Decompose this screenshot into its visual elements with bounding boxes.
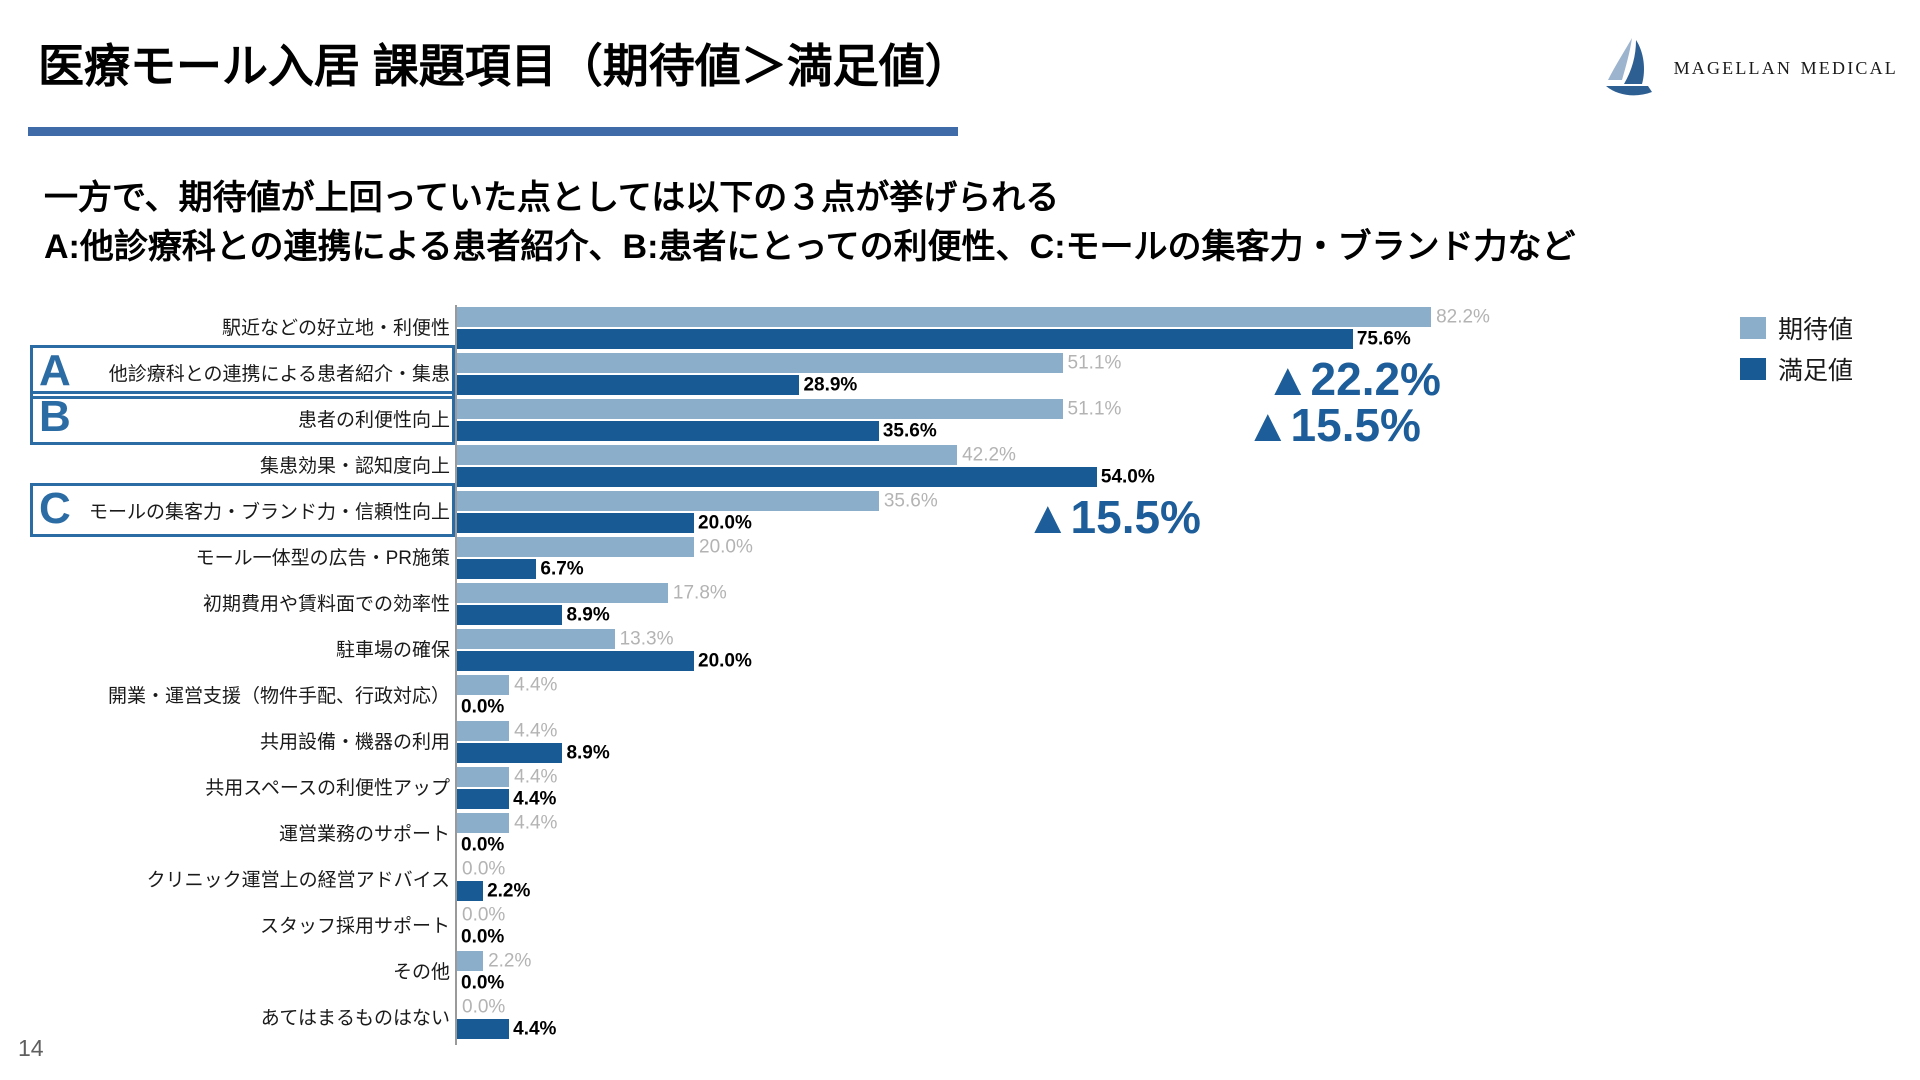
bar-value-expect: 13.3%: [615, 630, 674, 649]
bar-segment-expect: [457, 951, 483, 971]
bar-segment-satisf: [457, 743, 562, 763]
chart-row: 共用スペースの利便性アップ4.4%4.4%: [0, 767, 1920, 813]
bar-value-expect: 51.1%: [1063, 354, 1122, 373]
bar-value-satisf: 4.4%: [509, 790, 556, 809]
bar-value-expect: 35.6%: [879, 492, 938, 511]
bar-expect: 4.4%: [457, 675, 1657, 695]
subtitle-line-1: 一方で、期待値が上回っていた点としては以下の３点が挙げられる: [44, 174, 1576, 223]
bar-segment-satisf: [457, 329, 1353, 349]
bar-satisf: 8.9%: [457, 743, 1657, 763]
bar-value-expect: 0.0%: [457, 998, 505, 1017]
expectation-vs-satisfaction-bar-chart: 駅近などの好立地・利便性82.2%75.6%他診療科との連携による患者紹介・集患…: [0, 305, 1920, 1045]
bar-expect: 17.8%: [457, 583, 1657, 603]
category-label: クリニック運営上の経営アドバイス: [147, 871, 450, 890]
bar-satisf: 28.9%: [457, 375, 1657, 395]
bar-segment-satisf: [457, 375, 799, 395]
subtitle-line-2: A:他診療科との連携による患者紹介、B:患者にとっての利便性、C:モールの集客力…: [44, 223, 1576, 272]
bar-segment-expect: [457, 721, 509, 741]
bar-value-expect: 4.4%: [509, 722, 557, 741]
bar-segment-expect: [457, 307, 1431, 327]
bar-segment-expect: [457, 445, 957, 465]
callout-letter-b: B: [39, 395, 71, 439]
sail-boat-icon: [1602, 36, 1660, 98]
legend-swatch-expect: [1740, 317, 1766, 339]
bar-value-satisf: 20.0%: [694, 652, 752, 671]
chart-row: 駐車場の確保13.3%20.0%: [0, 629, 1920, 675]
bar-satisf: 8.9%: [457, 605, 1657, 625]
bar-segment-expect: [457, 583, 668, 603]
bar-satisf: 0.0%: [457, 927, 1657, 947]
bar-value-expect: 4.4%: [509, 768, 557, 787]
bar-value-satisf: 4.4%: [509, 1020, 556, 1039]
category-label: スタッフ採用サポート: [260, 917, 450, 936]
bar-expect: 4.4%: [457, 721, 1657, 741]
subtitle-block: 一方で、期待値が上回っていた点としては以下の３点が挙げられる A:他診療科との連…: [44, 174, 1576, 273]
bar-satisf: 54.0%: [457, 467, 1657, 487]
bar-value-expect: 17.8%: [668, 584, 727, 603]
bar-value-expect: 0.0%: [457, 860, 505, 879]
category-label: モール一体型の広告・PR施策: [196, 549, 450, 568]
delta-annotation: ▲22.2%: [1265, 356, 1441, 402]
category-label: 集患効果・認知度向上: [260, 457, 450, 476]
bar-expect: 0.0%: [457, 859, 1657, 879]
bar-expect: 4.4%: [457, 767, 1657, 787]
category-label: 初期費用や賃料面での効率性: [203, 595, 450, 614]
bar-value-satisf: 2.2%: [483, 882, 530, 901]
bar-satisf: 4.4%: [457, 789, 1657, 809]
chart-legend: 期待値満足値: [1740, 310, 1853, 392]
legend-label: 期待値: [1778, 310, 1853, 346]
bar-expect: 42.2%: [457, 445, 1657, 465]
chart-row: 共用設備・機器の利用4.4%8.9%: [0, 721, 1920, 767]
page-number: 14: [18, 1035, 44, 1062]
bar-value-satisf: 75.6%: [1353, 330, 1411, 349]
bar-value-satisf: 35.6%: [879, 422, 937, 441]
callout-box-b: B: [30, 391, 455, 445]
callout-letter-c: C: [39, 487, 71, 531]
bar-value-satisf: 0.0%: [457, 974, 504, 993]
bar-expect: 13.3%: [457, 629, 1657, 649]
bar-satisf: 75.6%: [457, 329, 1657, 349]
category-label: あてはまるものはない: [261, 1009, 450, 1028]
bar-value-expect: 20.0%: [694, 538, 753, 557]
bar-value-satisf: 8.9%: [562, 744, 609, 763]
category-label: 運営業務のサポート: [279, 825, 450, 844]
bar-segment-satisf: [457, 513, 694, 533]
chart-row: クリニック運営上の経営アドバイス0.0%2.2%: [0, 859, 1920, 905]
bar-segment-expect: [457, 353, 1063, 373]
bar-segment-satisf: [457, 421, 879, 441]
chart-row: 開業・運営支援（物件手配、行政対応）4.4%0.0%: [0, 675, 1920, 721]
callout-box-c: C: [30, 483, 455, 537]
bar-satisf: 6.7%: [457, 559, 1657, 579]
bar-value-expect: 51.1%: [1063, 400, 1122, 419]
category-label: 開業・運営支援（物件手配、行政対応）: [108, 687, 450, 706]
callout-letter-a: A: [39, 349, 71, 393]
bar-segment-expect: [457, 675, 509, 695]
bar-value-satisf: 20.0%: [694, 514, 752, 533]
bar-value-satisf: 0.0%: [457, 928, 504, 947]
bar-value-satisf: 54.0%: [1097, 468, 1155, 487]
category-label: 駐車場の確保: [336, 641, 450, 660]
bar-segment-satisf: [457, 467, 1097, 487]
bar-expect: 0.0%: [457, 905, 1657, 925]
bar-value-satisf: 8.9%: [562, 606, 609, 625]
category-label: 共用設備・機器の利用: [260, 733, 450, 752]
bar-expect: 51.1%: [457, 353, 1657, 373]
category-label: 駅近などの好立地・利便性: [222, 319, 450, 338]
bar-segment-expect: [457, 813, 509, 833]
title-underline-rule: [28, 127, 958, 136]
magellan-medical-logo: Magellan Medical: [1602, 36, 1898, 98]
bar-value-expect: 4.4%: [509, 676, 557, 695]
bar-value-expect: 4.4%: [509, 814, 557, 833]
bar-segment-expect: [457, 629, 615, 649]
chart-row: 運営業務のサポート4.4%0.0%: [0, 813, 1920, 859]
bar-segment-expect: [457, 767, 509, 787]
legend-item[interactable]: 満足値: [1740, 351, 1853, 387]
bar-expect: 2.2%: [457, 951, 1657, 971]
bar-satisf: 2.2%: [457, 881, 1657, 901]
bar-value-satisf: 28.9%: [799, 376, 857, 395]
bar-satisf: 0.0%: [457, 697, 1657, 717]
category-label: その他: [393, 963, 450, 982]
bar-value-expect: 0.0%: [457, 906, 505, 925]
bar-value-satisf: 0.0%: [457, 698, 504, 717]
bar-segment-satisf: [457, 789, 509, 809]
bar-expect: 4.4%: [457, 813, 1657, 833]
bar-value-satisf: 6.7%: [536, 560, 583, 579]
bar-segment-satisf: [457, 881, 483, 901]
bar-segment-expect: [457, 491, 879, 511]
bar-satisf: 0.0%: [457, 973, 1657, 993]
bar-satisf: 20.0%: [457, 651, 1657, 671]
bar-expect: 51.1%: [457, 399, 1657, 419]
bar-satisf: 35.6%: [457, 421, 1657, 441]
chart-row: その他2.2%0.0%: [0, 951, 1920, 997]
bar-segment-satisf: [457, 559, 536, 579]
bar-satisf: 4.4%: [457, 1019, 1657, 1039]
chart-row: モール一体型の広告・PR施策20.0%6.7%: [0, 537, 1920, 583]
bar-satisf: 0.0%: [457, 835, 1657, 855]
bar-segment-satisf: [457, 651, 694, 671]
bar-value-expect: 42.2%: [957, 446, 1016, 465]
category-label: 共用スペースの利便性アップ: [205, 779, 450, 798]
legend-swatch-satisf: [1740, 358, 1766, 380]
bar-segment-satisf: [457, 1019, 509, 1039]
page-title: 医療モール入居 課題項目（期待値＞満足値）: [38, 30, 971, 96]
chart-row: 初期費用や賃料面での効率性17.8%8.9%: [0, 583, 1920, 629]
delta-annotation: ▲15.5%: [1245, 402, 1421, 448]
bar-segment-satisf: [457, 605, 562, 625]
bar-expect: 82.2%: [457, 307, 1657, 327]
bar-expect: 0.0%: [457, 997, 1657, 1017]
bar-segment-expect: [457, 399, 1063, 419]
chart-row: スタッフ採用サポート0.0%0.0%: [0, 905, 1920, 951]
bar-segment-expect: [457, 537, 694, 557]
delta-annotation: ▲15.5%: [1025, 494, 1201, 540]
chart-row: あてはまるものはない0.0%4.4%: [0, 997, 1920, 1043]
bar-value-expect: 82.2%: [1431, 308, 1490, 327]
bar-value-satisf: 0.0%: [457, 836, 504, 855]
logo-wordmark: Magellan Medical: [1674, 53, 1898, 81]
legend-label: 満足値: [1778, 351, 1853, 387]
bar-value-expect: 2.2%: [483, 952, 531, 971]
legend-item[interactable]: 期待値: [1740, 310, 1853, 346]
